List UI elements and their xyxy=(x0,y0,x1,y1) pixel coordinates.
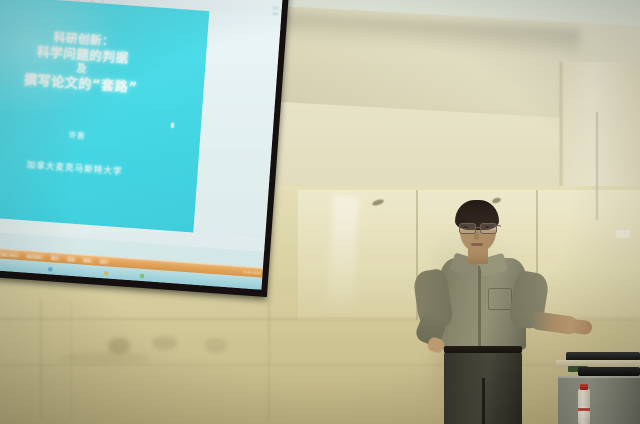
lectern-body-edge xyxy=(558,376,640,378)
lectern-body xyxy=(558,376,640,424)
presenter-belt xyxy=(444,346,522,353)
wall-smudge xyxy=(204,338,228,353)
wall-plate xyxy=(616,230,630,238)
taskbar-item[interactable]: 音乐 xyxy=(98,258,109,265)
desktop-icon[interactable] xyxy=(48,267,52,271)
taskbar-item[interactable]: 文档 - Micro xyxy=(0,251,19,259)
lectern-lower-shelf-item xyxy=(578,367,640,376)
screen-surface: 开始 插入 设计 切换 动画 幻灯片放映 审阅 视图 粘贴 新建幻灯片 版式 字… xyxy=(0,0,283,290)
eyeglass-lens-left xyxy=(459,223,476,234)
taskbar-item[interactable]: 图片 xyxy=(49,254,60,261)
mouse-cursor[interactable] xyxy=(171,123,174,128)
taskbar-item[interactable]: 演示文稿1 xyxy=(25,252,44,259)
wall-seam-vertical xyxy=(268,300,270,420)
shirt-pocket xyxy=(488,288,512,310)
shirt-button-placket xyxy=(478,266,481,348)
wall-cable xyxy=(596,112,598,220)
presenter-mouth xyxy=(471,243,483,246)
taskbar-item[interactable]: 资源 xyxy=(66,255,77,262)
title-slide[interactable]: 科研创新： 科学问题的判据 及 撰写论文的“套路” 许晋 加拿大麦克马斯特大学 xyxy=(0,0,209,233)
presenter-right-hand xyxy=(569,319,592,335)
wall-smudge xyxy=(152,336,178,350)
desktop-icon[interactable] xyxy=(104,271,108,275)
bottle-label-stripe xyxy=(578,408,590,411)
eyeglass-bridge xyxy=(474,227,480,228)
eyeglasses-icon xyxy=(458,223,498,232)
taskbar-item[interactable]: 邮件 xyxy=(82,257,93,264)
trouser-leg-seam xyxy=(482,378,485,424)
system-tray[interactable]: 中 EN 15:42 xyxy=(243,269,261,275)
presenter-eye-right xyxy=(485,226,489,228)
desktop-icon[interactable] xyxy=(140,274,144,278)
lectern xyxy=(556,352,640,424)
presenter-eye-left xyxy=(464,226,468,228)
projection-screen: 开始 插入 设计 切换 动画 幻灯片放映 审阅 视图 粘贴 新建幻灯片 版式 字… xyxy=(0,0,289,309)
photo-scene: 开始 插入 设计 切换 动画 幻灯片放映 审阅 视图 粘贴 新建幻灯片 版式 字… xyxy=(0,0,640,424)
slide-affiliation: 加拿大麦克马斯特大学 xyxy=(0,153,198,183)
wall-smudge xyxy=(60,352,150,364)
bottle-cap xyxy=(580,384,588,390)
wall-seam-vertical xyxy=(40,300,42,420)
find-label[interactable]: 查找 xyxy=(273,6,279,10)
water-bottle[interactable] xyxy=(578,384,590,424)
